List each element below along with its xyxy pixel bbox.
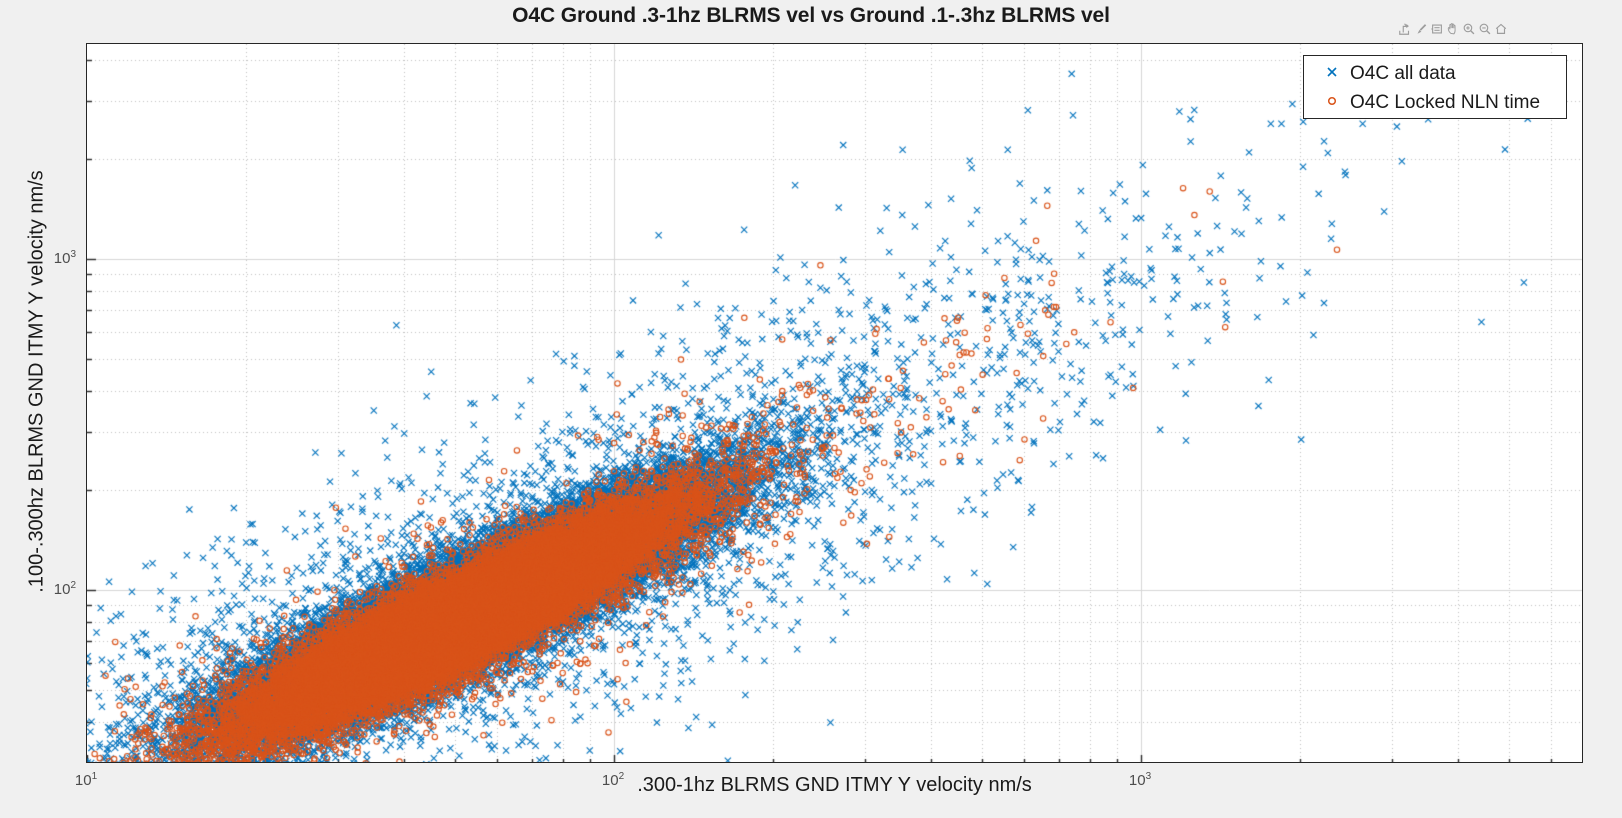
brush-icon[interactable] (1413, 20, 1428, 38)
legend-marker-circle (1314, 93, 1350, 113)
export-icon[interactable] (1397, 20, 1412, 38)
matlab-figure: O4C Ground .3-1hz BLRMS vel vs Ground .1… (0, 0, 1622, 818)
pan-icon[interactable] (1445, 20, 1460, 38)
y-axis-label: .100-.300hz BLRMS GND ITMY Y velocity nm… (26, 22, 49, 742)
datatip-icon[interactable] (1429, 20, 1444, 38)
scatter-plot-canvas (87, 44, 1583, 763)
legend-label: O4C Locked NLN time (1350, 92, 1540, 114)
zoom-in-icon[interactable] (1461, 20, 1476, 38)
legend-label: O4C all data (1350, 63, 1456, 85)
legend-marker-x (1314, 64, 1350, 84)
plot-axes[interactable] (86, 43, 1583, 763)
axes-toolbar[interactable] (1397, 19, 1508, 39)
legend-item-all-data[interactable]: O4C all data (1304, 59, 1566, 88)
legend[interactable]: O4C all data O4C Locked NLN time (1303, 55, 1567, 119)
home-icon[interactable] (1493, 20, 1508, 38)
page-title: O4C Ground .3-1hz BLRMS vel vs Ground .1… (0, 4, 1622, 28)
x-axis-label: .300-1hz BLRMS GND ITMY Y velocity nm/s (86, 774, 1583, 797)
zoom-out-icon[interactable] (1477, 20, 1492, 38)
legend-item-locked-nln[interactable]: O4C Locked NLN time (1304, 88, 1566, 117)
